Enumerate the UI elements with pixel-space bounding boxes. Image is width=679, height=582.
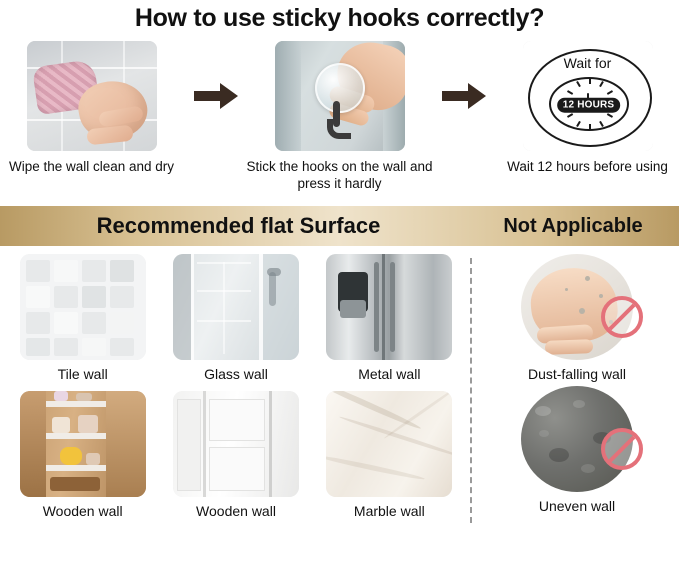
- marble-wall-photo: [326, 391, 452, 497]
- surface-label: Wooden wall: [196, 503, 276, 519]
- right-arrow-icon: [440, 41, 488, 151]
- surface-wooden-door: Wooden wall: [159, 391, 312, 524]
- surface-wooden-wall: Wooden wall: [6, 391, 159, 524]
- right-arrow-icon: [192, 41, 240, 151]
- surface-metal-wall: Metal wall: [313, 254, 466, 387]
- surface-marble-wall: Marble wall: [313, 391, 466, 524]
- surface-glass-wall: Glass wall: [159, 254, 312, 387]
- step-caption: Wipe the wall clean and dry: [0, 158, 192, 175]
- white-wooden-door-photo: [173, 391, 299, 497]
- surface-dust-falling-wall: Dust-falling wall: [521, 254, 633, 382]
- step-stick-hook: Stick the hooks on the wall and press it…: [240, 41, 440, 192]
- surface-label: Uneven wall: [539, 498, 615, 514]
- surface-banner: Recommended flat Surface Not Applicable: [0, 206, 679, 246]
- surface-uneven-wall: Uneven wall: [521, 386, 633, 514]
- recommended-grid: Tile wall Glass wall: [6, 254, 466, 523]
- step-wait: Wait for 12 HOURS Wait 12 hours be: [488, 41, 679, 175]
- prohibition-icon: [601, 296, 643, 338]
- clock-face: 12 HOURS: [549, 77, 629, 131]
- recommended-label: Recommended flat Surface: [0, 213, 467, 239]
- steps-row: Wipe the wall clean and dry Stick the ho…: [0, 41, 679, 192]
- clock-illustration: Wait for 12 HOURS: [523, 41, 653, 151]
- surface-tile-wall: Tile wall: [6, 254, 159, 387]
- step-wipe-wall: Wipe the wall clean and dry: [0, 41, 192, 175]
- not-applicable-label: Not Applicable: [467, 215, 679, 238]
- not-applicable-grid: Dust-falling wall Uneven wall: [482, 254, 672, 523]
- hand-wiping-wall-with-pink-towel: [27, 41, 157, 151]
- surface-label: Tile wall: [58, 366, 108, 382]
- surfaces-section: Tile wall Glass wall: [0, 246, 679, 523]
- prohibition-icon: [601, 428, 643, 470]
- page-title: How to use sticky hooks correctly?: [0, 0, 679, 33]
- tile-wall-photo: [20, 254, 146, 360]
- wait-for-label: Wait for: [523, 55, 653, 71]
- section-divider: [470, 258, 472, 523]
- stainless-steel-fridge-photo: [326, 254, 452, 360]
- glass-shower-wall-photo: [173, 254, 299, 360]
- twelve-hours-badge: 12 HOURS: [557, 98, 621, 113]
- step-caption: Wait 12 hours before using: [488, 158, 679, 175]
- wooden-cabinet-photo: [20, 391, 146, 497]
- surface-label: Marble wall: [354, 503, 425, 519]
- surface-label: Dust-falling wall: [528, 366, 626, 382]
- surface-label: Metal wall: [358, 366, 420, 382]
- surface-label: Glass wall: [204, 366, 268, 382]
- hand-pressing-transparent-hook-on-wall: [275, 41, 405, 151]
- step-caption: Stick the hooks on the wall and press it…: [240, 158, 440, 192]
- surface-label: Wooden wall: [43, 503, 123, 519]
